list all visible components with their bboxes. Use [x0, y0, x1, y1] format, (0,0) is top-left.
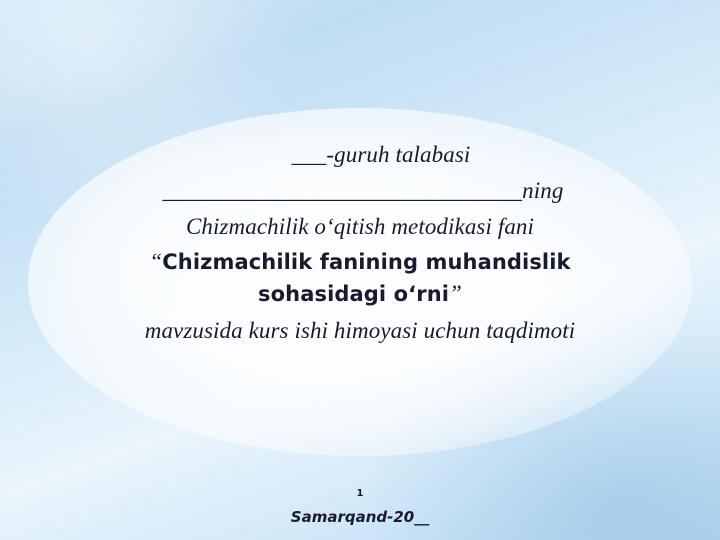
slide-footer-place-year: Samarqand-20__ — [0, 508, 720, 526]
topic-line-second: sohasidagi o‘rni” — [0, 279, 720, 308]
presentation-purpose-line: mavzusida kurs ishi himoyasi uchun taqdi… — [0, 316, 720, 345]
group-line: ___-guruh talabasi — [0, 140, 720, 169]
presentation-slide: ___-guruh talabasi _____________________… — [0, 0, 720, 540]
opening-quote: “ — [149, 249, 162, 274]
topic-line-first: “Chizmachilik fanining muhandislik — [0, 247, 720, 276]
subject-line: Chizmachilik o‘qitish metodikasi fani — [0, 212, 720, 241]
topic-text-second: sohasidagi o‘rni — [258, 282, 449, 306]
slide-text-block: ___-guruh talabasi _____________________… — [0, 140, 720, 346]
closing-quote: ” — [449, 281, 462, 306]
student-name-blank-line: _______________________________ning — [0, 176, 720, 205]
slide-number: 1 — [0, 488, 720, 499]
topic-text-first: Chizmachilik fanining muhandislik — [162, 250, 570, 274]
